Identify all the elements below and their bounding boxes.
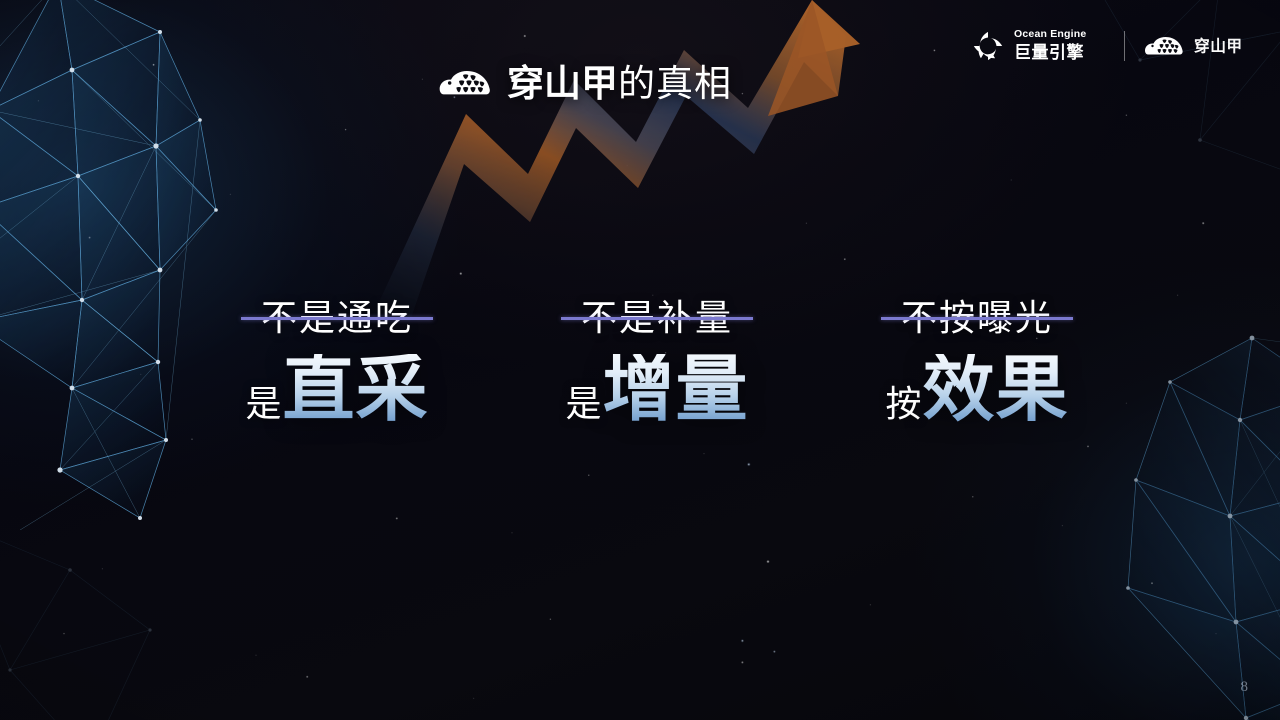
page-title: 穿山甲的真相	[507, 65, 732, 102]
pangolin-icon	[1143, 32, 1185, 60]
svg-text:穿山甲: 穿山甲	[1194, 37, 1243, 56]
positive-statement: 是 增量	[565, 354, 748, 426]
brand-bar: Ocean Engine 巨量引擎	[971, 24, 1258, 68]
positive-statement: 是 直采	[245, 354, 428, 426]
positive-prefix: 是	[565, 386, 602, 426]
ocean-engine-english-name: Ocean Engine	[1014, 29, 1106, 40]
polygon-mesh-bottom-left-decoration	[0, 480, 250, 720]
negative-statement: 不是补量	[577, 296, 737, 340]
pangolin-chinese-wordmark: 穿山甲	[1194, 35, 1258, 57]
ocean-engine-wordmark: Ocean Engine 巨量引擎	[1014, 29, 1106, 64]
rising-zigzag-arrow-graphic	[368, 0, 868, 332]
negative-statement: 不是通吃	[257, 296, 417, 340]
ocean-engine-aperture-icon	[971, 29, 1005, 63]
pangolin-icon	[437, 65, 493, 101]
svg-text:巨量引擎: 巨量引擎	[1014, 42, 1084, 62]
ocean-engine-chinese-wordmark: 巨量引擎	[1014, 41, 1106, 63]
title-tail: 的真相	[618, 63, 732, 104]
statement-column-performance-based: 不按曝光 按 效果	[817, 296, 1137, 426]
ocean-engine-logo[interactable]: Ocean Engine 巨量引擎	[971, 29, 1106, 64]
negative-statement: 不按曝光	[897, 296, 1057, 340]
statement-columns: 不是通吃 是 直采 不是补量 是 增量 不按曝光 按 效果	[0, 296, 1280, 426]
positive-statement: 按 效果	[885, 354, 1068, 426]
brand-divider	[1124, 31, 1125, 61]
slide-title: 穿山甲的真相	[437, 57, 732, 109]
slide-canvas: Ocean Engine 巨量引擎	[0, 0, 1280, 720]
page-number: 8	[1241, 679, 1249, 696]
pangolin-logo[interactable]: 穿山甲	[1143, 32, 1258, 60]
positive-accent: 效果	[923, 354, 1069, 426]
positive-accent: 增量	[603, 354, 749, 426]
statement-column-direct-purchase: 不是通吃 是 直采	[177, 296, 497, 426]
polygon-mesh-left-decoration	[0, 0, 290, 530]
positive-prefix: 按	[885, 386, 922, 426]
statement-column-incremental-volume: 不是补量 是 增量	[497, 296, 817, 426]
positive-accent: 直采	[283, 354, 429, 426]
title-keyword: 穿山甲	[507, 63, 618, 104]
positive-prefix: 是	[245, 386, 282, 426]
